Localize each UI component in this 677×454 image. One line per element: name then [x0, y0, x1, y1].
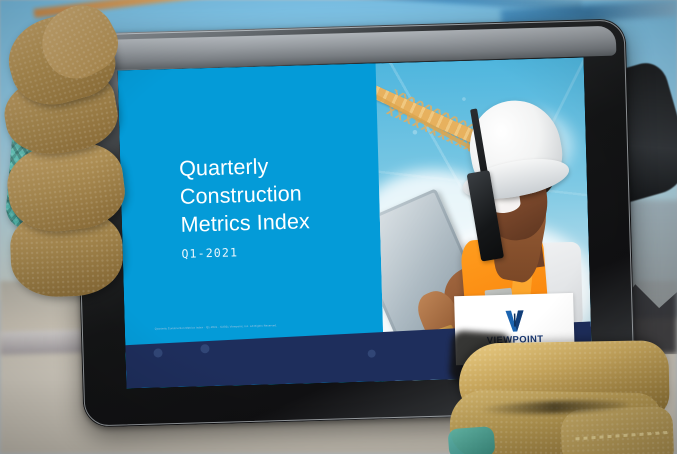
glove-cuff — [560, 406, 674, 454]
screenshot-stage: Quarterly Construction Metrics Index Q1-… — [0, 0, 677, 454]
left-work-glove — [0, 4, 142, 312]
slide-title-block: Quarterly Construction Metrics Index Q1-… — [179, 150, 387, 260]
glove-teal-accent — [448, 426, 496, 454]
footer-dot — [200, 344, 209, 353]
slide-title-line-3: Metrics Index — [180, 206, 386, 240]
right-work-glove — [448, 322, 677, 454]
footer-dot — [153, 348, 162, 357]
footer-dot — [368, 349, 376, 357]
